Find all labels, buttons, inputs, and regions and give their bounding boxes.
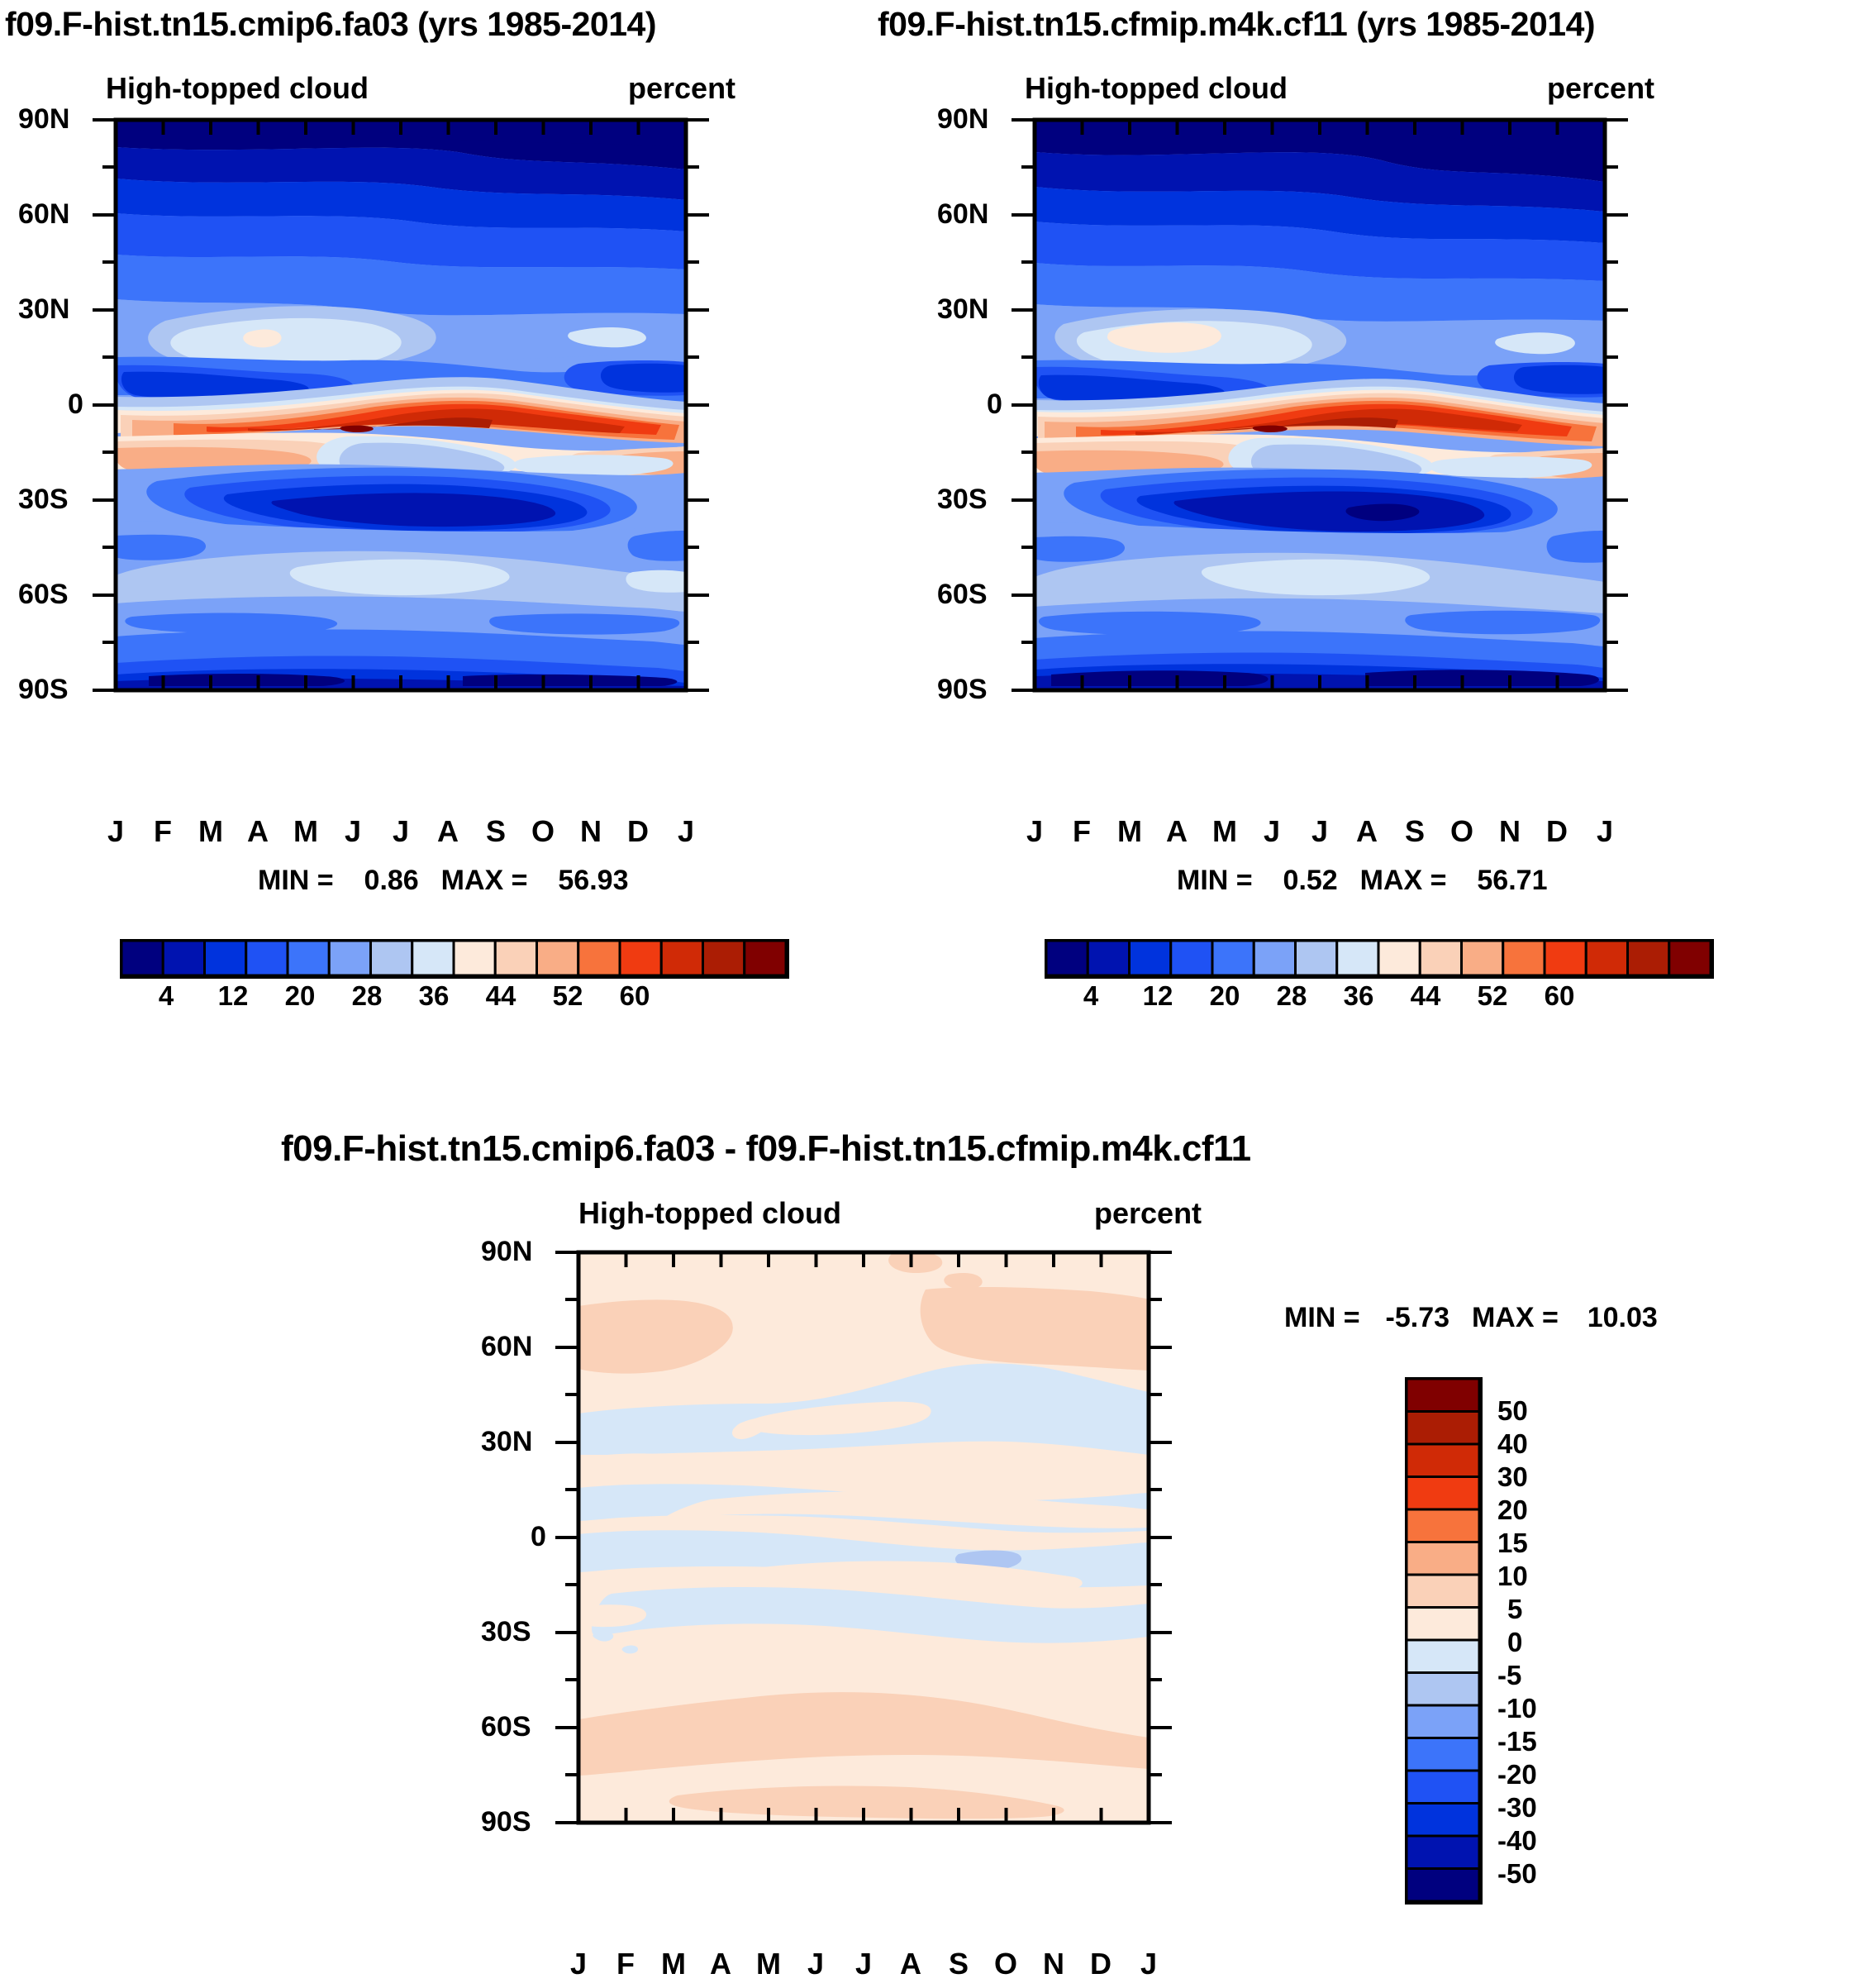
cb-label: 28 [1275, 980, 1308, 1012]
cb-label: 12 [1141, 980, 1174, 1012]
diff-ytick-90n: 90N [481, 1236, 532, 1268]
cb-label: 0 [1507, 1627, 1522, 1658]
cb-label: -50 [1497, 1858, 1537, 1890]
right-panel-plot [919, 107, 1770, 810]
xtick-label: J [1132, 1947, 1165, 1981]
max-value: 10.03 [1588, 1302, 1658, 1333]
left-ytick-30n: 30N [18, 293, 69, 326]
right-ytick-90s: 90S [937, 674, 988, 706]
cb-label: 52 [551, 980, 584, 1012]
diff-ytick-60s: 60S [481, 1711, 531, 1743]
left-ytick-0: 0 [68, 389, 83, 421]
cb-label: 5 [1507, 1594, 1522, 1625]
left-ytick-90n: 90N [18, 103, 69, 136]
left-minmax-text: MIN = 0.86 MAX = 56.93 [258, 865, 628, 897]
xtick-label: J [1255, 814, 1288, 849]
xtick-label: M [1208, 814, 1241, 849]
max-value: 56.93 [558, 865, 628, 896]
left-panel-units-label: percent [628, 71, 735, 106]
right-panel-title: f09.F-hist.tn15.cfmip.m4k.cf11 (yrs 1985… [878, 5, 1595, 44]
cb-label: -20 [1497, 1759, 1537, 1790]
cb-label: -40 [1497, 1825, 1537, 1857]
right-ytick-0: 0 [987, 389, 1002, 421]
left-ytick-60s: 60S [18, 579, 69, 611]
difference-units-label: percent [1094, 1196, 1202, 1231]
xtick-label: A [1160, 814, 1193, 849]
diff-ytick-90s: 90S [481, 1806, 531, 1838]
left-ytick-60n: 60N [18, 198, 69, 231]
right-ytick-30n: 30N [937, 293, 988, 326]
max-label: MAX = [1472, 1302, 1559, 1333]
cb-label: 60 [1543, 980, 1576, 1012]
right-ytick-60s: 60S [937, 579, 988, 611]
left-panel-field-label: High-topped cloud [106, 71, 369, 106]
xtick-label: O [1445, 814, 1478, 849]
left-ytick-90s: 90S [18, 674, 69, 706]
diff-ytick-60n: 60N [481, 1331, 532, 1363]
xtick-label: J [336, 814, 369, 849]
cb-label: 30 [1497, 1461, 1528, 1493]
difference-colorbar[interactable] [1405, 1377, 1488, 1906]
cb-label: 4 [150, 980, 183, 1012]
xtick-label: D [621, 814, 655, 849]
cb-label: 10 [1497, 1561, 1528, 1592]
xtick-label: F [609, 1947, 642, 1981]
cb-label: 15 [1497, 1528, 1528, 1559]
cb-label: 20 [1497, 1495, 1528, 1526]
xtick-label: J [1303, 814, 1336, 849]
cb-label: 36 [1342, 980, 1375, 1012]
min-label: MIN = [1177, 865, 1253, 896]
max-value: 56.71 [1477, 865, 1547, 896]
right-ytick-90n: 90N [937, 103, 988, 136]
xtick-label: N [574, 814, 607, 849]
xtick-label: A [894, 1947, 927, 1981]
left-panel-plot [0, 107, 843, 810]
xtick-label: J [1588, 814, 1621, 849]
xtick-label: J [799, 1947, 832, 1981]
cb-label: -5 [1497, 1660, 1521, 1691]
right-ytick-30s: 30S [937, 484, 988, 516]
difference-minmax-text: MIN = -5.73 MAX = 10.03 [1284, 1302, 1658, 1334]
right-ytick-60n: 60N [937, 198, 988, 231]
xtick-label: J [99, 814, 132, 849]
right-colorbar[interactable] [1045, 939, 1714, 979]
min-label: MIN = [1284, 1302, 1360, 1333]
xtick-label: M [289, 814, 322, 849]
left-colorbar[interactable] [120, 939, 789, 979]
xtick-label: J [847, 1947, 880, 1981]
xtick-label: O [526, 814, 559, 849]
cb-label: 60 [618, 980, 651, 1012]
min-value: -5.73 [1386, 1302, 1450, 1333]
right-minmax-text: MIN = 0.52 MAX = 56.71 [1177, 865, 1547, 897]
cb-label: 20 [283, 980, 317, 1012]
cb-label: 28 [350, 980, 383, 1012]
xtick-label: M [752, 1947, 785, 1981]
cb-label: 12 [217, 980, 250, 1012]
xtick-label: J [669, 814, 702, 849]
xtick-label: A [431, 814, 464, 849]
xtick-label: O [989, 1947, 1022, 1981]
difference-panel-title: f09.F-hist.tn15.cmip6.fa03 - f09.F-hist.… [281, 1128, 1251, 1170]
xtick-label: F [146, 814, 179, 849]
diff-ytick-30s: 30S [481, 1616, 531, 1648]
xtick-label: D [1084, 1947, 1117, 1981]
xtick-label: D [1540, 814, 1573, 849]
xtick-label: J [562, 1947, 595, 1981]
xtick-label: A [704, 1947, 737, 1981]
max-label: MAX = [1360, 865, 1447, 896]
cb-label: 4 [1074, 980, 1107, 1012]
xtick-label: N [1493, 814, 1526, 849]
cb-label: 50 [1497, 1395, 1528, 1427]
xtick-label: A [241, 814, 274, 849]
cb-label: -15 [1497, 1726, 1537, 1757]
xtick-label: F [1065, 814, 1098, 849]
xtick-label: N [1037, 1947, 1070, 1981]
min-value: 0.52 [1283, 865, 1338, 896]
difference-field-label: High-topped cloud [578, 1196, 841, 1231]
min-value: 0.86 [364, 865, 419, 896]
left-panel-title: f09.F-hist.tn15.cmip6.fa03 (yrs 1985-201… [5, 5, 656, 44]
xtick-label: M [194, 814, 227, 849]
xtick-label: M [1113, 814, 1146, 849]
difference-panel-plot [463, 1240, 1372, 1951]
cb-label: 20 [1208, 980, 1241, 1012]
xtick-label: M [657, 1947, 690, 1981]
max-label: MAX = [441, 865, 528, 896]
min-label: MIN = [258, 865, 334, 896]
diff-ytick-30n: 30N [481, 1426, 532, 1458]
xtick-label: A [1350, 814, 1383, 849]
xtick-label: J [384, 814, 417, 849]
xtick-label: S [942, 1947, 975, 1981]
cb-label: -30 [1497, 1792, 1537, 1824]
cb-label: 44 [484, 980, 517, 1012]
left-ytick-30s: 30S [18, 484, 69, 516]
cb-label: -10 [1497, 1693, 1537, 1724]
cb-label: 52 [1476, 980, 1509, 1012]
right-panel-field-label: High-topped cloud [1025, 71, 1288, 106]
xtick-label: S [479, 814, 512, 849]
cb-label: 44 [1409, 980, 1442, 1012]
xtick-label: S [1398, 814, 1431, 849]
diff-ytick-0: 0 [531, 1521, 546, 1553]
right-panel-units-label: percent [1547, 71, 1654, 106]
cb-label: 40 [1497, 1428, 1528, 1460]
cb-label: 36 [417, 980, 450, 1012]
xtick-label: J [1018, 814, 1051, 849]
